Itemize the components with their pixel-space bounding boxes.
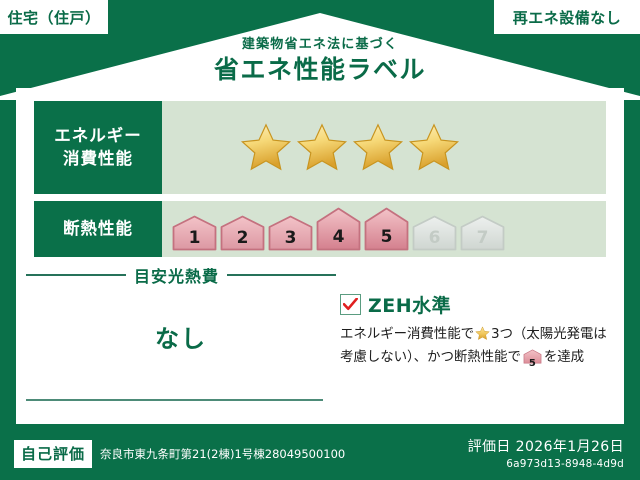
star-icon bbox=[240, 122, 292, 174]
star-icon bbox=[352, 122, 404, 174]
row-insulation-value: 1234567 bbox=[162, 201, 606, 257]
row-energy-label-line2: 消費性能 bbox=[63, 148, 133, 170]
insulation-chip-number: 2 bbox=[220, 230, 265, 247]
star-rating bbox=[240, 122, 460, 174]
cost-bottom-rule bbox=[26, 399, 323, 401]
insulation-chip-number: 5 bbox=[364, 229, 409, 246]
footer-left: 自己評価 奈良市東九条町第21(2棟)1号棟28049500100 bbox=[14, 440, 345, 468]
property-address: 奈良市東九条町第21(2棟)1号棟28049500100 bbox=[100, 446, 345, 462]
inline-grade-chip-number: 5 bbox=[523, 359, 542, 369]
evaluation-date: 評価日 2026年1月26日 bbox=[468, 436, 624, 456]
badge-building-type-label: 住宅（住戸） bbox=[7, 7, 100, 28]
insulation-chip-3: 3 bbox=[268, 215, 313, 251]
cost-title-row: 目安光熱費 bbox=[26, 263, 336, 287]
badge-renewable-energy: 再エネ設備なし bbox=[494, 0, 640, 34]
badge-renewable-energy-label: 再エネ設備なし bbox=[513, 7, 622, 28]
row-energy-consumption: エネルギー 消費性能 bbox=[34, 101, 606, 194]
metric-rows: エネルギー 消費性能 断熱性能 1234567 bbox=[34, 101, 606, 264]
energy-performance-label: 住宅（住戸） 再エネ設備なし 建築物省エネ法に基づく 省エネ性能ラベル エネルギ… bbox=[0, 0, 640, 480]
self-evaluation-badge: 自己評価 bbox=[14, 440, 92, 468]
star-icon bbox=[475, 329, 490, 345]
row-energy-label-line1: エネルギー bbox=[54, 125, 142, 147]
zeh-header: ZEH水準 bbox=[340, 291, 612, 318]
insulation-chip-6: 6 bbox=[412, 215, 457, 251]
evaluation-id: 6a973d13-8948-4d9d bbox=[468, 458, 624, 470]
insulation-chip-number: 4 bbox=[316, 229, 361, 246]
badge-building-type: 住宅（住戸） bbox=[0, 0, 108, 34]
insulation-chip-2: 2 bbox=[220, 215, 265, 251]
zeh-checkbox bbox=[340, 294, 361, 315]
row-insulation: 断熱性能 1234567 bbox=[34, 201, 606, 257]
page-title: 建築物省エネ法に基づく 省エネ性能ラベル bbox=[0, 38, 640, 86]
star-icon bbox=[296, 122, 348, 174]
page-main-title: 省エネ性能ラベル bbox=[0, 54, 640, 85]
insulation-chip-7: 7 bbox=[460, 215, 505, 251]
zeh-standard-block: ZEH水準 エネルギー消費性能で3つ（太陽光発電は考慮しない）、かつ断熱性能で5… bbox=[340, 291, 612, 371]
insulation-chip-5: 5 bbox=[364, 207, 409, 251]
cost-value: なし bbox=[26, 319, 336, 354]
cost-title: 目安光熱費 bbox=[134, 263, 219, 287]
insulation-chip-1: 1 bbox=[172, 215, 217, 251]
page-subtitle: 建築物省エネ法に基づく bbox=[0, 38, 640, 52]
insulation-grade-chips: 1234567 bbox=[172, 207, 505, 251]
insulation-chip-number: 6 bbox=[412, 230, 457, 247]
estimated-utility-cost: 目安光熱費 なし bbox=[26, 263, 336, 354]
cost-rule-right bbox=[227, 274, 336, 276]
zeh-desc-part3: を達成 bbox=[544, 349, 584, 365]
cost-rule-left bbox=[26, 274, 126, 276]
zeh-title: ZEH水準 bbox=[368, 291, 451, 318]
insulation-chip-4: 4 bbox=[316, 207, 361, 251]
inline-grade-chip: 5 bbox=[523, 349, 542, 370]
checkmark-icon bbox=[343, 298, 358, 311]
row-insulation-label: 断熱性能 bbox=[34, 201, 162, 257]
insulation-chip-number: 3 bbox=[268, 230, 313, 247]
star-icon bbox=[408, 122, 460, 174]
footer-right: 評価日 2026年1月26日 6a973d13-8948-4d9d bbox=[468, 436, 624, 470]
insulation-chip-number: 7 bbox=[460, 230, 505, 247]
insulation-chip-number: 1 bbox=[172, 230, 217, 247]
row-energy-value bbox=[162, 101, 606, 194]
zeh-desc-part1: エネルギー消費性能で bbox=[340, 326, 474, 342]
zeh-description: エネルギー消費性能で3つ（太陽光発電は考慮しない）、かつ断熱性能で5を達成 bbox=[340, 324, 612, 371]
row-energy-label: エネルギー 消費性能 bbox=[34, 101, 162, 194]
row-insulation-label-line1: 断熱性能 bbox=[63, 218, 133, 240]
